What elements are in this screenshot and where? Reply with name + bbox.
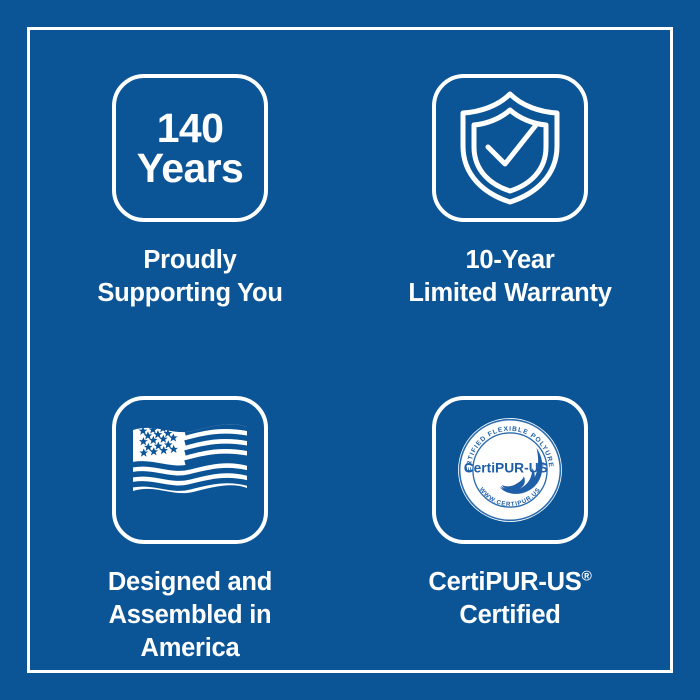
certipur-us-seal-icon: CONTAINS CERTIFIED FLEXIBLE POLYURETHANE… xyxy=(457,417,563,523)
badge-item-made-in-america: Designed and Assembled in America xyxy=(30,350,350,670)
caption-line: Certified xyxy=(428,599,591,632)
shield-tile xyxy=(432,74,588,222)
caption-line: Assembled in xyxy=(108,599,272,632)
shield-check-icon xyxy=(454,90,566,206)
seal-center-text: CertiPUR-US xyxy=(464,461,548,476)
badge-caption-warranty: 10-Year Limited Warranty xyxy=(408,244,611,310)
caption-line: Limited Warranty xyxy=(408,277,611,310)
flag-tile xyxy=(112,396,268,544)
caption-line: America xyxy=(108,632,272,665)
badge-grid: 140 Years Proudly Supporting You xyxy=(30,30,670,670)
seal-center-registered-mark: ® xyxy=(541,461,545,468)
years-icon-text: 140 Years xyxy=(137,108,243,188)
years-word: Years xyxy=(137,148,243,188)
badge-item-warranty: 10-Year Limited Warranty xyxy=(350,30,670,350)
caption-line: Supporting You xyxy=(97,277,282,310)
caption-line: Proudly xyxy=(97,244,282,277)
caption-line: CertiPUR-US xyxy=(428,568,581,596)
certipur-tile: CONTAINS CERTIFIED FLEXIBLE POLYURETHANE… xyxy=(432,396,588,544)
badge-caption-years: Proudly Supporting You xyxy=(97,244,282,310)
registered-trademark-mark: ® xyxy=(582,568,592,584)
140-years-icon: 140 Years xyxy=(112,74,268,222)
badge-item-certipur: CONTAINS CERTIFIED FLEXIBLE POLYURETHANE… xyxy=(350,350,670,670)
certipur-seal-svg: CONTAINS CERTIFIED FLEXIBLE POLYURETHANE… xyxy=(457,417,563,523)
badge-caption-made-in-america: Designed and Assembled in America xyxy=(108,566,272,665)
caption-line-with-mark: CertiPUR-US® xyxy=(428,566,591,599)
badge-item-years: 140 Years Proudly Supporting You xyxy=(30,30,350,350)
badge-panel: 140 Years Proudly Supporting You xyxy=(0,0,700,700)
caption-line: Designed and xyxy=(108,566,272,599)
years-number: 140 xyxy=(137,108,243,148)
usa-flag-icon xyxy=(129,422,251,518)
badge-caption-certipur: CertiPUR-US® Certified xyxy=(428,566,591,632)
caption-line: 10-Year xyxy=(408,244,611,277)
